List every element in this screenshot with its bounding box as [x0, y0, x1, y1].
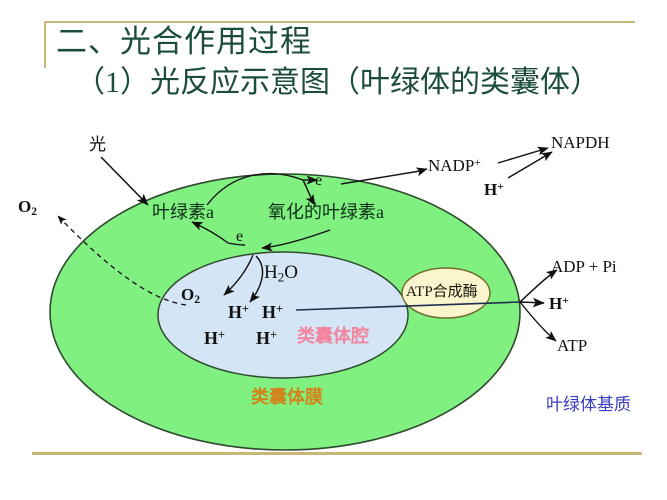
slide-canvas: 二、光合作用过程 （1）光反应示意图（叶绿体的类囊体） [0, 0, 667, 500]
label-water: H2O [264, 263, 298, 285]
electron-to-nadp-line [341, 171, 420, 184]
label-electron-top: e [315, 173, 322, 189]
label-light: 光 [89, 136, 106, 153]
proton-to-napdh-arrow [508, 152, 552, 178]
label-proton-right-top: H+ [484, 181, 504, 198]
oxygen-lumen-subscript: 2 [194, 293, 200, 306]
label-stroma-caption: 叶绿体基质 [546, 396, 631, 413]
proton-exit-symbol: H [549, 294, 562, 313]
label-oxygen-lumen: O2 [181, 286, 200, 306]
proton-exit-arrow [520, 302, 544, 303]
proton-lumen-2-superscript: + [276, 302, 283, 316]
label-napdh: NAPDH [551, 134, 610, 151]
proton-lumen-1-superscript: + [242, 302, 249, 316]
water-o: O [284, 262, 298, 283]
water-h: H [264, 262, 278, 283]
proton-exit-superscript: + [562, 294, 569, 307]
nadp-arrow [420, 169, 427, 171]
photosynthesis-diagram [0, 0, 667, 500]
label-electron-mid: e [236, 229, 243, 245]
label-lumen-caption: 类囊体腔 [297, 327, 369, 345]
proton-lumen-4-symbol: H [256, 328, 270, 348]
label-adp-pi: ADP + Pi [551, 258, 617, 275]
label-proton-lumen-1: H+ [228, 303, 249, 321]
label-proton-lumen-4: H+ [256, 329, 277, 347]
label-nadp-plus: NADP+ [428, 157, 481, 174]
nadp-text: NADP [428, 156, 474, 175]
oxygen-external-symbol: O [18, 197, 31, 216]
proton-lumen-2-symbol: H [262, 302, 276, 322]
proton-lumen-3-superscript: + [218, 328, 225, 342]
proton-lumen-3-symbol: H [204, 328, 218, 348]
proton-right-top-superscript: + [497, 180, 504, 193]
oxygen-lumen-symbol: O [181, 285, 194, 304]
light-arrow [101, 157, 148, 205]
label-proton-lumen-2: H+ [262, 303, 283, 321]
label-chlorophyll-a: 叶绿素a [152, 203, 214, 221]
proton-lumen-4-superscript: + [270, 328, 277, 342]
label-oxygen-external: O2 [18, 198, 37, 218]
label-proton-lumen-3: H+ [204, 329, 225, 347]
nadp-to-napdh-arrow [498, 148, 548, 163]
oxygen-external-subscript: 2 [31, 205, 37, 218]
nadp-superscript: + [474, 156, 481, 169]
proton-lumen-1-symbol: H [228, 302, 242, 322]
label-oxidized-chlorophyll-a: 氧化的叶绿素a [268, 203, 384, 221]
label-proton-exit: H+ [549, 295, 569, 312]
label-membrane-caption: 类囊体膜 [251, 388, 323, 406]
label-atp-synthase: ATP合成酶 [406, 285, 478, 300]
proton-right-top-symbol: H [484, 180, 497, 199]
label-atp: ATP [557, 337, 587, 354]
